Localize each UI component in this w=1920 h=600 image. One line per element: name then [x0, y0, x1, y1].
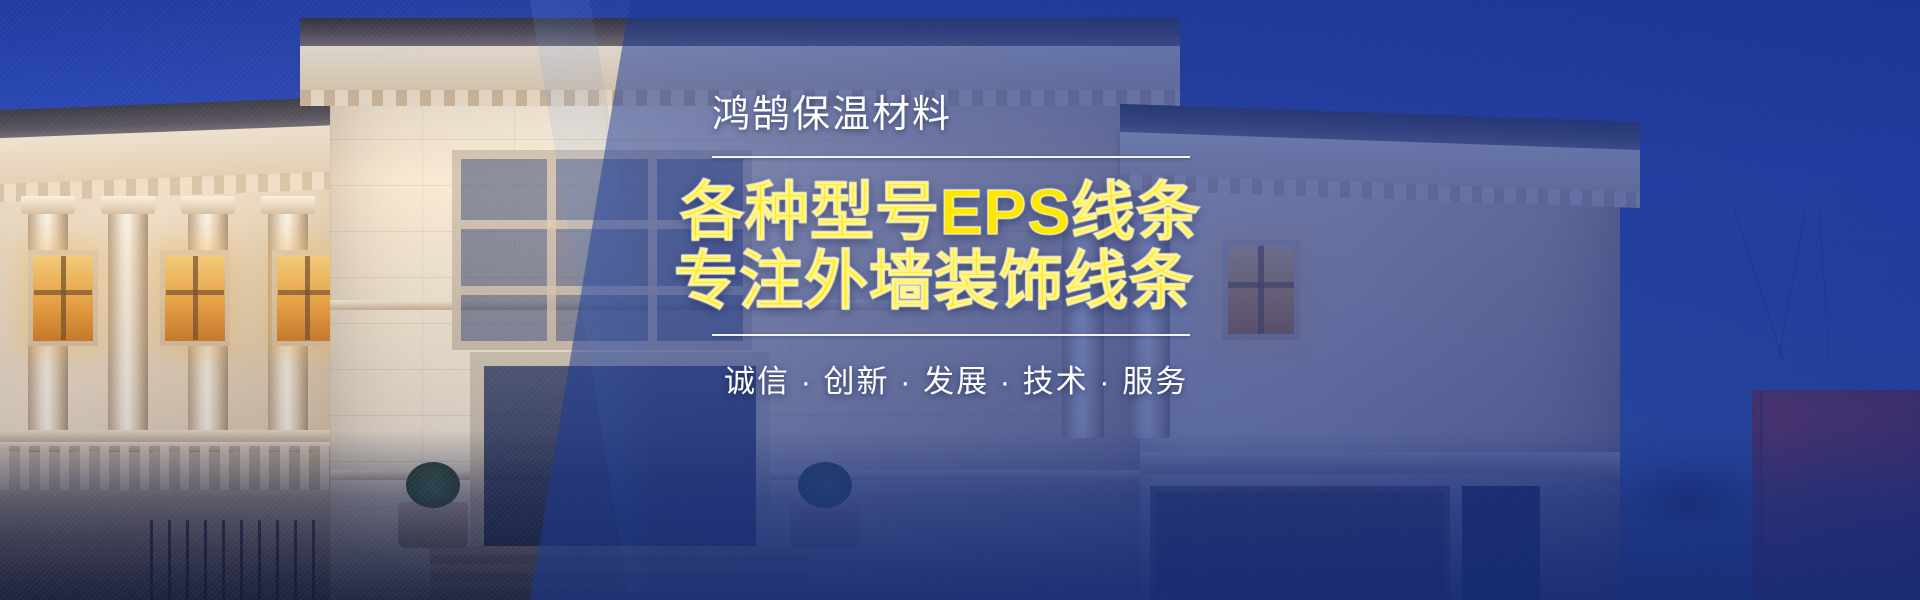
banner-copy: 鸿鹄保温材料 各种型号EPS线条 专注外墙装饰线条 诚信 · 创新 · 发展 ·…: [680, 96, 1320, 401]
slogan: 诚信 · 创新 · 发展 · 技术 · 服务: [724, 356, 1320, 401]
brand-name: 鸿鹄保温材料: [712, 96, 1320, 134]
hero-banner: 鸿鹄保温材料 各种型号EPS线条 专注外墙装饰线条 诚信 · 创新 · 发展 ·…: [0, 0, 1920, 600]
divider-bottom: [712, 334, 1190, 336]
headline-line-1: 各种型号EPS线条: [680, 178, 1320, 247]
headline-line-2: 专注外墙装饰线条: [674, 247, 1320, 316]
divider-top: [712, 156, 1190, 158]
headline: 各种型号EPS线条 专注外墙装饰线条: [680, 178, 1320, 316]
